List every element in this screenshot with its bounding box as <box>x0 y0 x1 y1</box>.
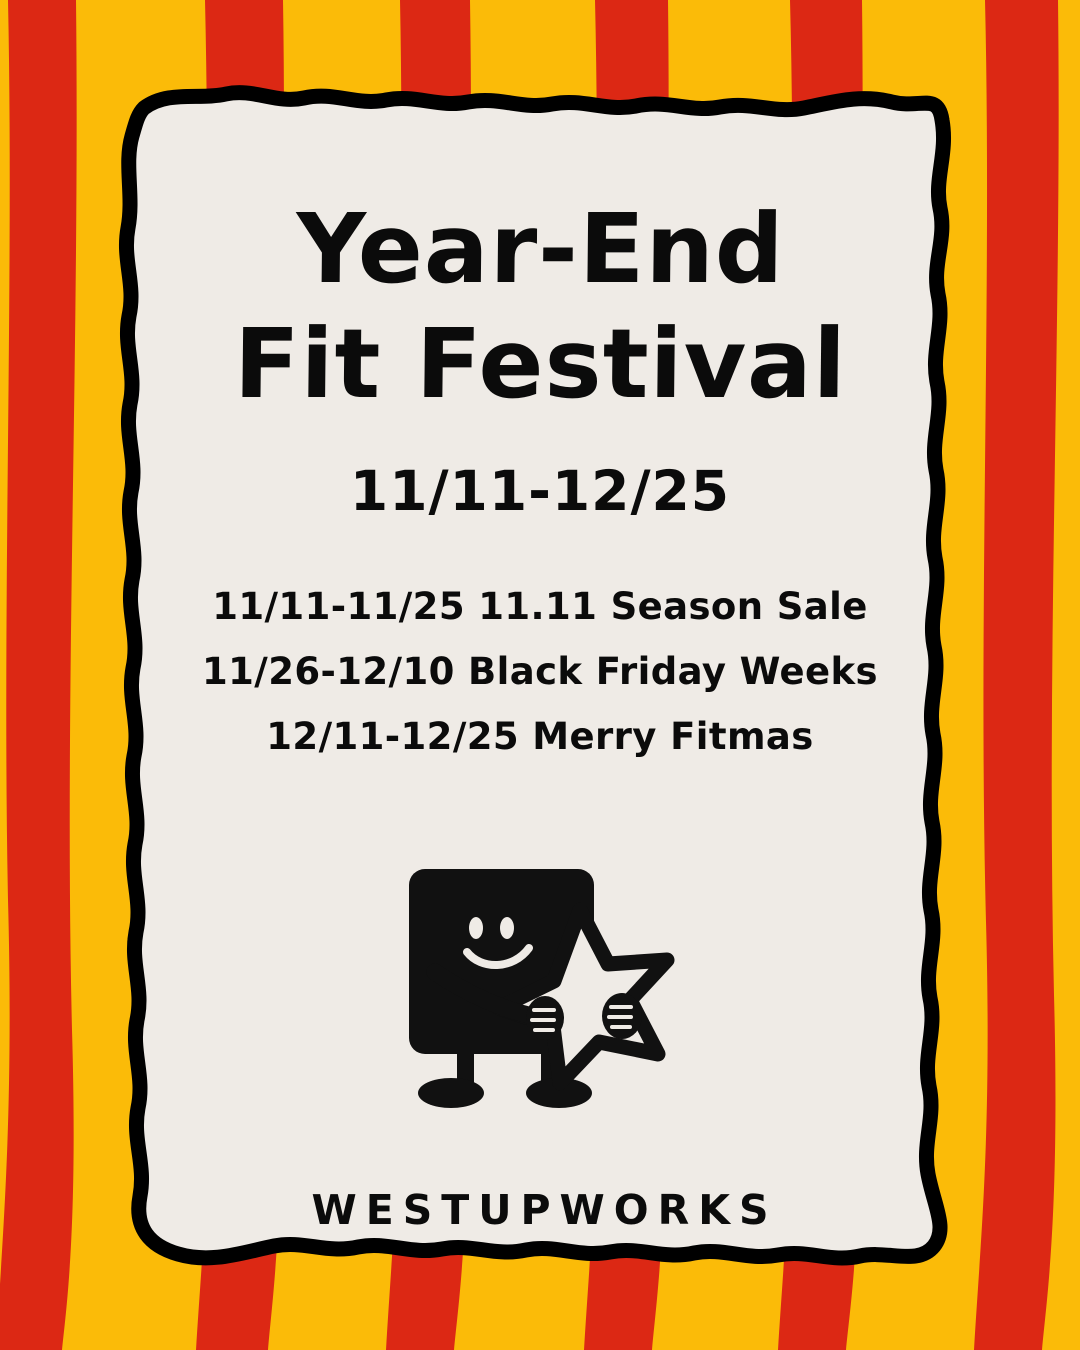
event-line: 11/11-11/25 11.11 Season Sale <box>212 585 868 628</box>
character-right-eye <box>500 917 514 939</box>
poster-canvas: Year-End Fit Festival 11/11-12/25 11/11-… <box>0 0 1080 1350</box>
square-character-hugging-star-illustration <box>395 854 685 1124</box>
character-left-eye <box>469 917 483 939</box>
poster-headline: Year-End Fit Festival <box>234 194 847 421</box>
event-line: 12/11-12/25 Merry Fitmas <box>266 715 813 758</box>
headline-line-1: Year-End <box>233 194 847 305</box>
main-date-range: 11/11-12/25 <box>350 459 730 523</box>
event-schedule-list: 11/11-11/25 11.11 Season Sale 11/26-12/1… <box>202 585 878 758</box>
character-left-hand <box>526 996 564 1040</box>
event-line: 11/26-12/10 Black Friday Weeks <box>202 650 878 693</box>
poster-card: Year-End Fit Festival 11/11-12/25 11/11-… <box>108 68 972 1280</box>
brand-wordmark: WESTUPWORKS <box>302 1186 777 1234</box>
character-right-hand <box>602 993 642 1039</box>
headline-line-2: Fit Festival <box>233 309 847 420</box>
